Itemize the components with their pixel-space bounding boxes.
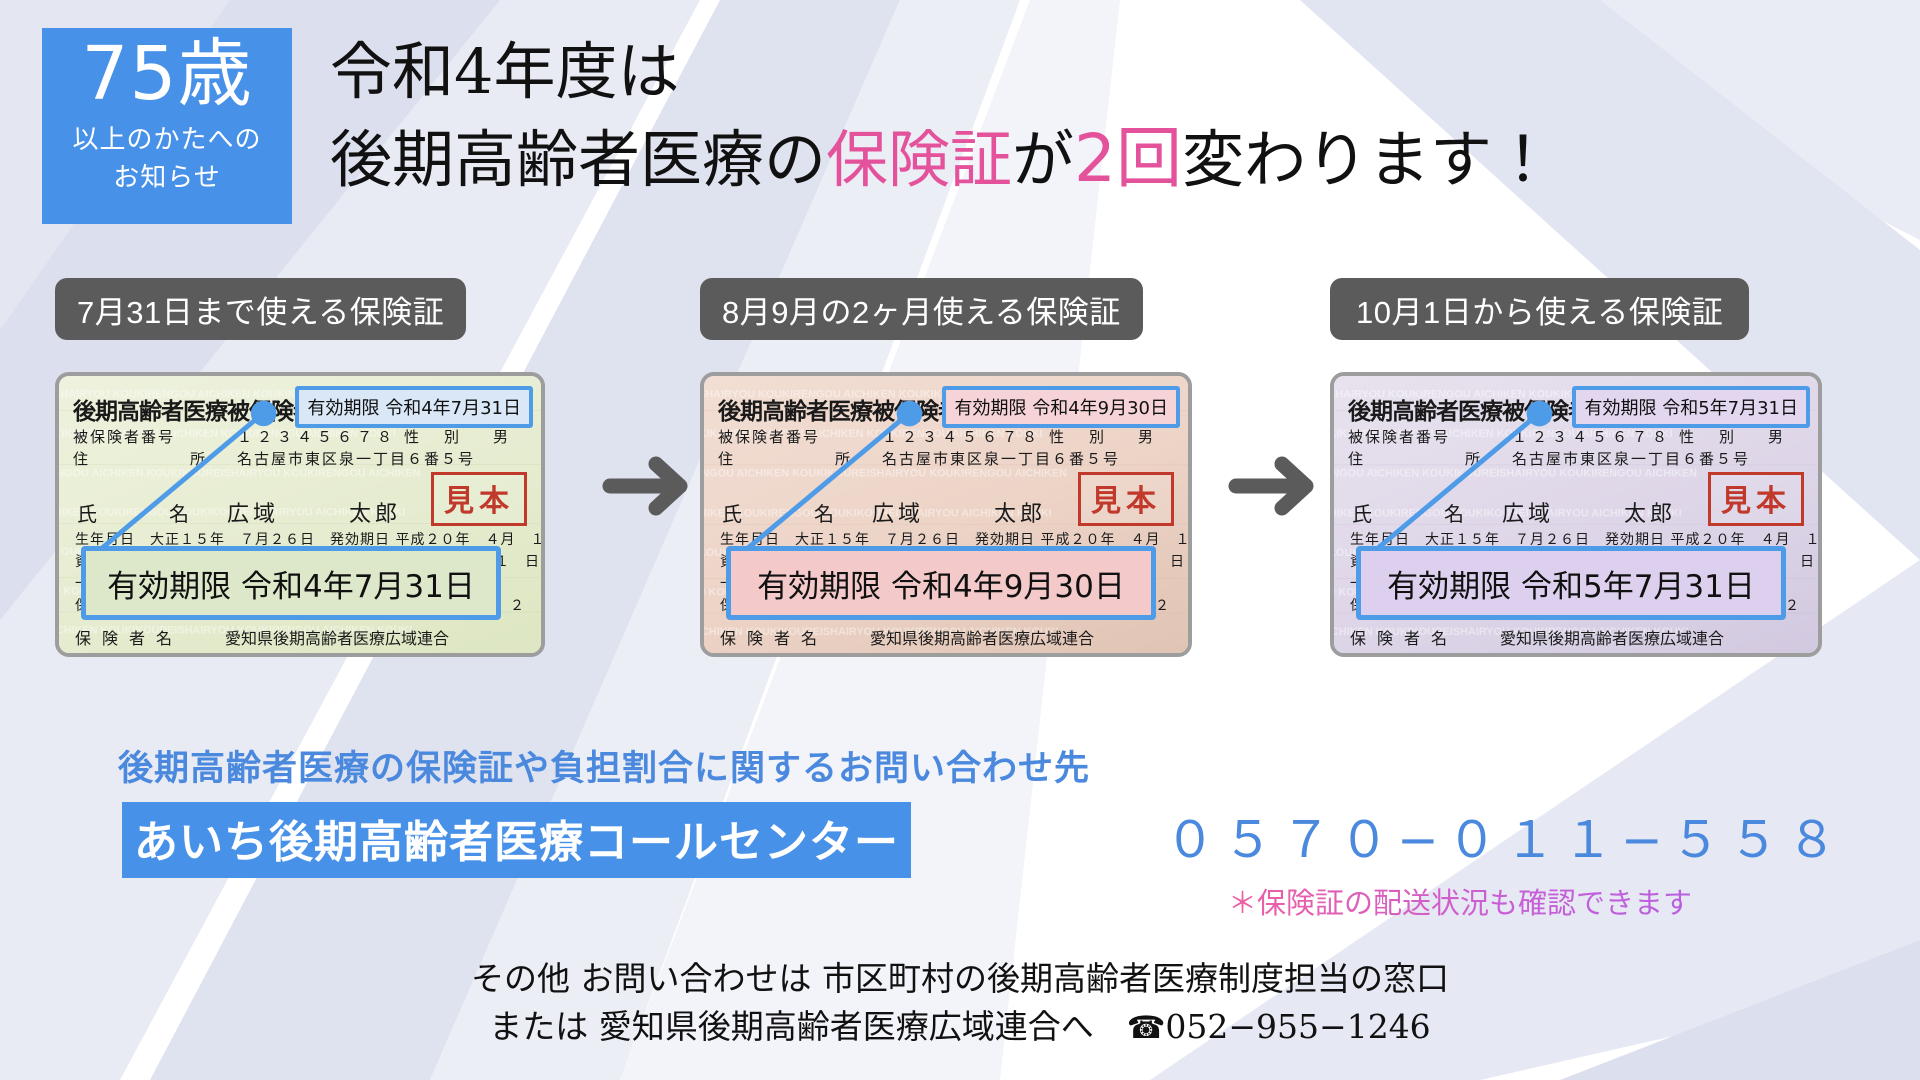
card-insurer-label: 保険者名	[720, 625, 828, 649]
card-insurer-value: 愛知県後期高齢者医療広域連合	[225, 625, 449, 649]
expiry-callout-large: 有効期限 令和5年7月31日	[1356, 546, 1786, 620]
headline-line2-part-c: 変わります！	[1182, 123, 1554, 196]
card-number-value: １２３４５６７８	[237, 426, 397, 447]
badge-age-text: 75歳	[81, 36, 252, 114]
card-name-label: 氏 名	[77, 498, 215, 527]
contact-section-title: 後期高齢者医療の保険証や負担割合に関するお問い合わせ先	[118, 740, 1090, 791]
card-name-given: 太郎	[1624, 496, 1676, 528]
telephone-icon: ☎	[1127, 1010, 1166, 1046]
card-address-label: 住 所	[73, 448, 229, 469]
headline-line2-part-a: 後期高齢者医療の	[330, 123, 826, 196]
expiry-callout-small: 有効期限 令和4年9月30日	[942, 386, 1180, 428]
card-sex-label: 性 別	[1049, 426, 1109, 447]
headline-highlight-twice: 2回	[1074, 120, 1182, 197]
sample-stamp: 見本	[431, 472, 527, 526]
card-sex-value: 男	[493, 426, 508, 447]
sample-stamp: 見本	[1708, 472, 1804, 526]
poster-header: 75歳 以上のかたへの お知らせ 令和4年度は 後期高齢者医療の保険証が2回変わ…	[0, 0, 1920, 250]
card-sex-label: 性 別	[1679, 426, 1739, 447]
card-column-july: 7月31日まで使える保険証 SHAIRYOU KOUKIRENGOU AICHI…	[55, 278, 600, 657]
card-sex-label: 性 別	[404, 426, 464, 447]
callcenter-phone-number[interactable]: ０５７０−０１１−５５８	[1165, 800, 1845, 872]
expiry-callout-large: 有効期限 令和4年7月31日	[81, 546, 501, 620]
card-number-value: １２３４５６７８	[1512, 426, 1672, 447]
footer-line1: その他 お問い合わせは 市区町村の後期高齢者医療制度担当の窓口	[0, 955, 1920, 1003]
arrow-right-icon	[1228, 456, 1324, 516]
transition-arrow-2	[1228, 456, 1324, 521]
card-address-label: 住 所	[718, 448, 874, 469]
insurance-card: SHAIRYOU KOUKIRENGOU AICHIKEN KOUKIKOURE…	[1330, 372, 1822, 657]
card-number-label: 被保険者番号	[718, 426, 820, 447]
card-period-tab: 10月1日から使える保険証	[1330, 278, 1749, 340]
card-insurer-label: 保険者名	[75, 625, 183, 649]
card-number-label: 被保険者番号	[73, 426, 175, 447]
callcenter-name-banner: あいち後期高齢者医療コールセンター	[122, 802, 911, 878]
card-name-given: 太郎	[994, 496, 1046, 528]
badge-subtitle-line2: お知らせ	[113, 159, 220, 195]
card-insurer-value: 愛知県後期高齢者医療広域連合	[870, 625, 1094, 649]
age-badge: 75歳 以上のかたへの お知らせ	[42, 28, 292, 224]
insurance-card: SHAIRYOU KOUKIRENGOU AICHIKEN KOUKIKOURE…	[55, 372, 545, 657]
card-column-aug-sep: 8月9月の2ヶ月使える保険証 SHAIRYOU KOUKIRENGOU AICH…	[700, 278, 1245, 657]
card-period-tab: 7月31日まで使える保険証	[55, 278, 466, 340]
card-address-value: 名古屋市東区泉一丁目６番５号	[882, 448, 1120, 469]
sample-stamp: 見本	[1078, 472, 1174, 526]
card-column-october: 10月1日から使える保険証 SHAIRYOU KOUKIRENGOU AICHI…	[1330, 278, 1875, 657]
footer-contact-info: その他 お問い合わせは 市区町村の後期高齢者医療制度担当の窓口 または 愛知県後…	[0, 955, 1920, 1051]
card-number-value: １２３４５６７８	[882, 426, 1042, 447]
expiry-callout-small: 有効期限 令和5年7月31日	[1572, 386, 1810, 428]
card-name-label: 氏 名	[722, 498, 860, 527]
insurance-card: SHAIRYOU KOUKIRENGOU AICHIKEN KOUKIKOURE…	[700, 372, 1192, 657]
expiry-callout-large: 有効期限 令和4年9月30日	[726, 546, 1156, 620]
footer-line2: または 愛知県後期高齢者医療広域連合へ ☎052−955−1246	[0, 1003, 1920, 1051]
transition-arrow-1	[602, 456, 698, 521]
headline-line1: 令和4年度は	[330, 32, 1554, 111]
headline-highlight-insurance-card: 保険証	[826, 123, 1012, 196]
card-period-tab: 8月9月の2ヶ月使える保険証	[700, 278, 1143, 340]
headline-line2: 後期高齢者医療の保険証が2回変わります！	[330, 117, 1554, 201]
card-address-value: 名古屋市東区泉一丁目６番５号	[237, 448, 475, 469]
card-name-label: 氏 名	[1352, 498, 1490, 527]
footer-line2-text: または 愛知県後期高齢者医療広域連合へ	[489, 1007, 1127, 1046]
card-name-given: 太郎	[349, 496, 401, 528]
headline-line2-part-b: が	[1012, 123, 1074, 196]
card-name-family: 広域	[227, 496, 279, 528]
arrow-right-icon	[602, 456, 698, 516]
page-title: 令和4年度は 後期高齢者医療の保険証が2回変わります！	[330, 32, 1554, 202]
card-sex-value: 男	[1138, 426, 1153, 447]
card-number-label: 被保険者番号	[1348, 426, 1450, 447]
card-insurer-value: 愛知県後期高齢者医療広域連合	[1500, 625, 1724, 649]
card-name-family: 広域	[872, 496, 924, 528]
card-name-family: 広域	[1502, 496, 1554, 528]
card-sex-value: 男	[1768, 426, 1783, 447]
expiry-callout-small: 有効期限 令和4年7月31日	[295, 386, 533, 428]
card-address-value: 名古屋市東区泉一丁目６番５号	[1512, 448, 1750, 469]
footer-phone-number[interactable]: 052−955−1246	[1165, 1007, 1430, 1046]
badge-subtitle-line1: 以上のかたへの	[72, 120, 261, 159]
card-insurer-label: 保険者名	[1350, 625, 1458, 649]
delivery-status-note: ＊保険証の配送状況も確認できます	[1228, 880, 1692, 922]
card-address-label: 住 所	[1348, 448, 1504, 469]
